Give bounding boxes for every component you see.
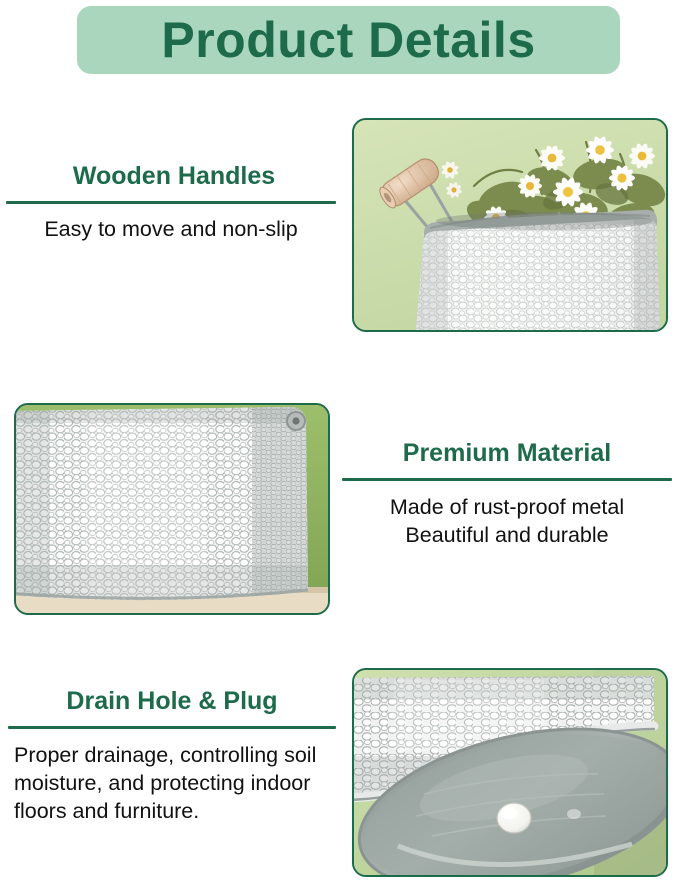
section-divider-wooden-handles bbox=[6, 201, 336, 204]
section-body-drain-hole-plug: Proper drainage, controlling soil moistu… bbox=[8, 741, 336, 826]
section-heading-premium-material: Premium Material bbox=[342, 440, 672, 468]
body-line: Made of rust-proof metal bbox=[342, 493, 672, 521]
hammered-metal-texture-closeup-photo bbox=[14, 403, 330, 615]
section-heading-drain-hole-plug: Drain Hole & Plug bbox=[8, 688, 336, 716]
section-premium-material-text: Premium Material Made of rust-proof meta… bbox=[342, 440, 672, 549]
section-divider-premium-material bbox=[342, 478, 672, 481]
section-wooden-handles-text: Wooden Handles Easy to move and non-slip bbox=[6, 163, 336, 243]
planter-with-daisies-and-wooden-handle-photo bbox=[352, 118, 668, 332]
body-line: moisture, and protecting indoor bbox=[14, 769, 336, 797]
section-heading-wooden-handles: Wooden Handles bbox=[6, 163, 336, 191]
section-divider-drain-hole-plug bbox=[8, 726, 336, 729]
section-drain-hole-plug-text: Drain Hole & Plug Proper drainage, contr… bbox=[8, 688, 336, 826]
page-title: Product Details bbox=[77, 6, 620, 74]
body-line: Beautiful and durable bbox=[342, 521, 672, 549]
body-line: floors and furniture. bbox=[14, 797, 336, 825]
planter-base-with-drain-plug-photo bbox=[352, 668, 668, 877]
body-line: Proper drainage, controlling soil bbox=[14, 741, 336, 769]
section-body-premium-material: Made of rust-proof metal Beautiful and d… bbox=[342, 493, 672, 550]
body-line: Easy to move and non-slip bbox=[6, 215, 336, 243]
section-body-wooden-handles: Easy to move and non-slip bbox=[6, 215, 336, 243]
